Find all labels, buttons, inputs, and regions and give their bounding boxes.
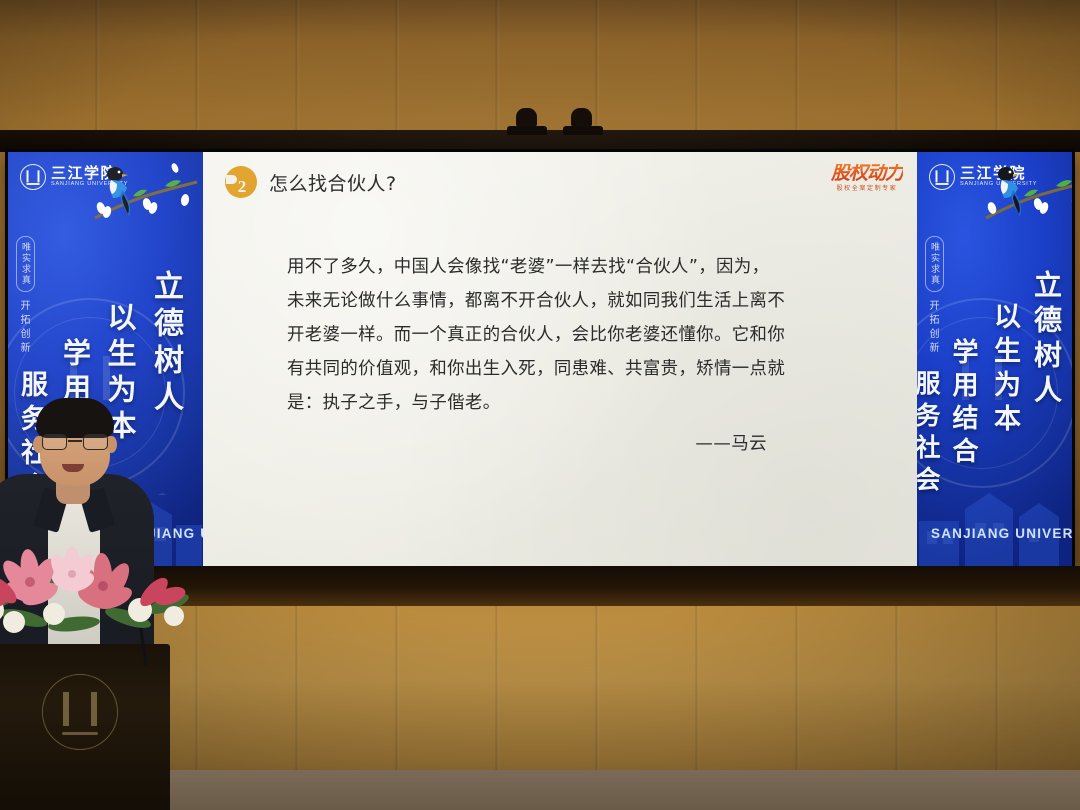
ceiling-equipment-group	[505, 103, 605, 135]
flower-arrangement	[0, 506, 193, 636]
calligraphy-column-1: 立德树人	[143, 270, 187, 418]
glasses-lens-left	[42, 434, 67, 450]
quote-body: 用不了多久，中国人会像找“老婆”一样去找“合伙人”，因为， 未来无论做什么事情，…	[287, 250, 857, 420]
university-seal-icon	[20, 164, 46, 190]
quote-attribution: ——马云	[695, 430, 767, 455]
auditorium-scene: 三江学院 SANJIANG UNIVERSITY	[0, 0, 1080, 810]
brand-logo-main-text: 股权动力	[831, 164, 903, 183]
ptz-camera-head-icon	[516, 108, 537, 127]
motto-pill-text: 唯实求真	[16, 236, 35, 292]
quote-line: 有共同的价值观，和你出生入死，同患难、共富贵，矫情一点就	[287, 352, 857, 386]
slide-canvas[interactable]: 2 怎么找合伙人? 股权动力 股权全案定制专家 用不了多久，中国人会像找“老婆”…	[203, 152, 917, 567]
campus-name-en-right: SANJIANG UNIVERSITY	[917, 526, 1072, 541]
calligraphy-column-2: 以生为本	[985, 302, 1024, 438]
slide-header: 2 怎么找合伙人?	[225, 166, 903, 198]
calligraphy-column-4: 服务社会	[917, 370, 944, 498]
projector-unit-icon	[563, 126, 603, 135]
quote-line: 未来无论做什么事情，都离不开合伙人，就如同我们生活上离不	[287, 284, 857, 318]
speaker-glasses-icon	[42, 434, 108, 451]
brand-logo: 股权动力 股权全案定制专家	[831, 164, 903, 192]
podium-university-emblem-icon	[42, 674, 118, 750]
quote-line: 开老婆一样。而一个真正的合伙人，会比你老婆还懂你。它和你	[287, 318, 857, 352]
section-number-badge: 2	[225, 166, 257, 198]
quote-line: 用不了多久，中国人会像找“老婆”一样去找“合伙人”，因为，	[287, 250, 857, 284]
speaker-hair	[36, 398, 114, 438]
section-number-text: 2	[238, 178, 247, 195]
quote-line: 是：执子之手，与子偕老。	[287, 386, 857, 420]
motto-pill-text: 唯实求真	[925, 236, 944, 292]
podium	[0, 644, 170, 810]
glasses-bridge	[68, 440, 82, 442]
university-seal-icon	[929, 164, 955, 190]
glasses-lens-right	[83, 434, 108, 450]
projector-lens-icon	[571, 108, 592, 127]
campus-silhouette-right: SANJIANG UNIVERSITY	[917, 489, 1072, 567]
magpie-bird-branch-icon	[89, 160, 199, 232]
slide-title: 怎么找合伙人?	[269, 169, 397, 196]
calligraphy-column-3: 学用结合	[945, 338, 982, 470]
calligraphy-column-1: 立德树人	[1026, 270, 1066, 410]
brand-logo-sub-text: 股权全案定制专家	[831, 186, 903, 192]
lily-bouquet-icon	[0, 506, 193, 636]
speaker-at-podium	[0, 398, 190, 810]
screen-right-banner: 三江学院 SANJIANG UNIVERSITY	[917, 152, 1072, 567]
ptz-camera-icon	[507, 126, 547, 135]
magpie-bird-branch-icon	[980, 160, 1072, 232]
